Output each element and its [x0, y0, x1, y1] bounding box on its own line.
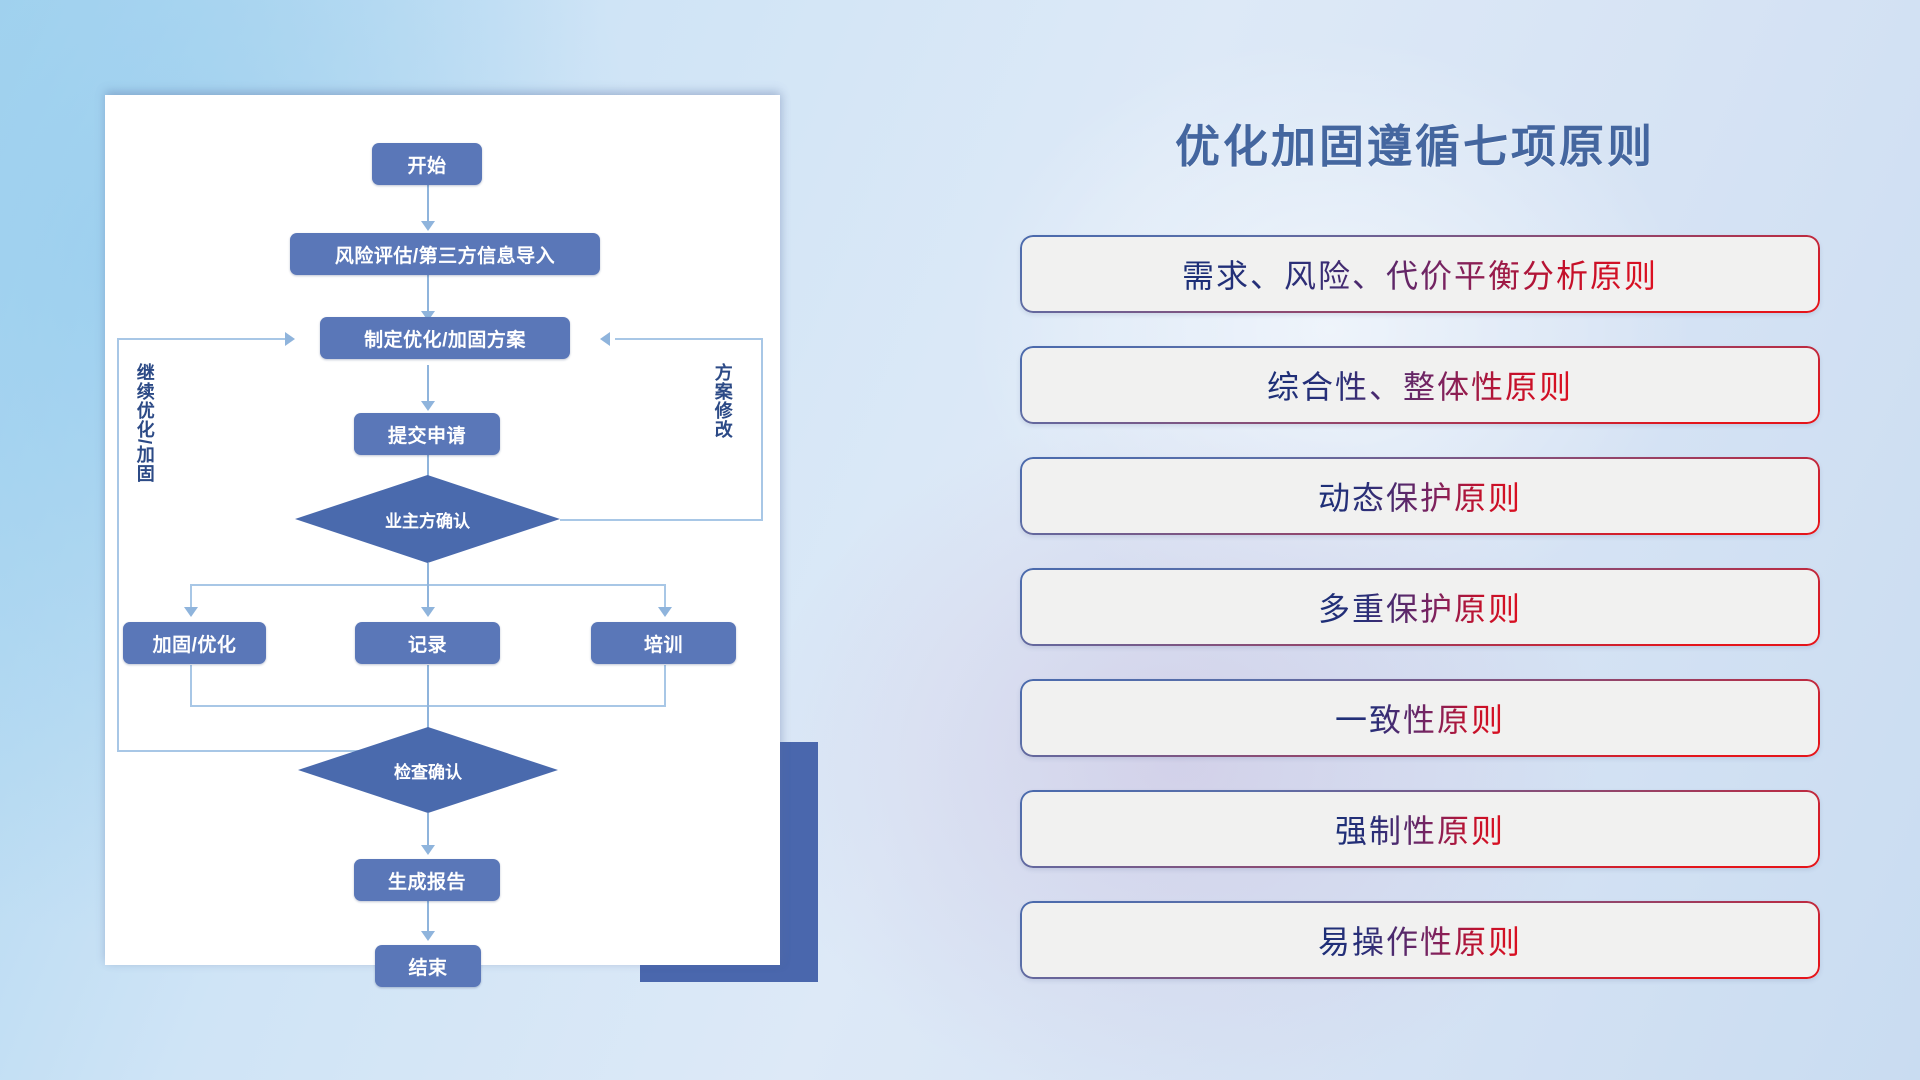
flow-node-submit[interactable]: 提交申请	[354, 413, 500, 455]
flow-node-start[interactable]: 开始	[372, 143, 482, 185]
principle-item-2-label: 综合性、整体性原则	[1267, 362, 1573, 408]
principle-list: 需求、风险、代价平衡分析原则 综合性、整体性原则 动态保护原则 多重保护原则 一…	[1020, 235, 1820, 1012]
arrowhead-submit	[421, 401, 435, 411]
principle-item-7[interactable]: 易操作性原则	[1020, 901, 1820, 979]
flowchart-card: 开始 风险评估/第三方信息导入 制定优化/加固方案 提交申请 业主方确认 加固/…	[105, 95, 780, 965]
principle-item-2[interactable]: 综合性、整体性原则	[1020, 346, 1820, 424]
flow-node-training[interactable]: 培训	[591, 622, 736, 664]
flow-node-record[interactable]: 记录	[355, 622, 500, 664]
flow-node-risk-assessment[interactable]: 风险评估/第三方信息导入	[290, 233, 600, 275]
arrowhead-risk	[421, 221, 435, 231]
principle-item-5-label: 一致性原则	[1335, 695, 1505, 741]
principle-item-6-label: 强制性原则	[1335, 806, 1505, 852]
flow-node-start-label: 开始	[407, 151, 446, 178]
connector-risk-to-plan	[427, 275, 429, 315]
flow-node-submit-label: 提交申请	[388, 421, 466, 448]
principle-item-7-label: 易操作性原则	[1318, 917, 1522, 963]
connector-left-vertical	[117, 338, 119, 752]
flow-node-report-label: 生成报告	[388, 867, 466, 894]
principle-item-3-label: 动态保护原则	[1318, 473, 1522, 519]
flow-node-owner-confirm-label: 业主方确认	[385, 507, 470, 532]
arrowhead-plan-from-right	[600, 332, 610, 346]
connector-owner-down	[427, 563, 429, 585]
connector-check-to-report	[427, 813, 429, 849]
arrowhead-train	[658, 607, 672, 617]
edge-label-plan-revision: 方案修改	[713, 363, 732, 439]
principle-item-4[interactable]: 多重保护原则	[1020, 568, 1820, 646]
merge-riser-reinforce	[190, 665, 192, 707]
flow-node-check-confirm[interactable]: 检查确认	[298, 727, 558, 813]
merge-riser-train	[664, 665, 666, 707]
principle-item-5[interactable]: 一致性原则	[1020, 679, 1820, 757]
flow-node-training-label: 培训	[644, 630, 683, 657]
connector-left-to-plan	[117, 338, 289, 340]
arrowhead-report	[421, 845, 435, 855]
connector-owner-right	[560, 519, 763, 521]
connector-start-to-risk	[427, 185, 429, 225]
principle-item-1-label: 需求、风险、代价平衡分析原则	[1182, 251, 1658, 297]
flow-node-plan-label: 制定优化/加固方案	[364, 325, 526, 352]
arrowhead-end	[421, 931, 435, 941]
flow-node-end-label: 结束	[408, 953, 447, 980]
arrowhead-reinforce	[184, 607, 198, 617]
flow-node-risk-assessment-label: 风险评估/第三方信息导入	[335, 241, 555, 268]
connector-right-to-plan	[615, 338, 763, 340]
flow-node-report[interactable]: 生成报告	[354, 859, 500, 901]
flow-node-plan[interactable]: 制定优化/加固方案	[320, 317, 570, 359]
principle-item-1[interactable]: 需求、风险、代价平衡分析原则	[1020, 235, 1820, 313]
connector-plan-to-submit	[427, 365, 429, 405]
connector-right-up	[761, 338, 763, 521]
flow-node-record-label: 记录	[408, 630, 447, 657]
flow-node-end[interactable]: 结束	[375, 945, 481, 987]
principle-item-6[interactable]: 强制性原则	[1020, 790, 1820, 868]
connector-report-to-end	[427, 901, 429, 935]
flow-node-reinforce-label: 加固/优化	[153, 630, 237, 657]
principle-item-4-label: 多重保护原则	[1318, 584, 1522, 630]
slide-canvas: 开始 风险评估/第三方信息导入 制定优化/加固方案 提交申请 业主方确认 加固/…	[0, 0, 1920, 1080]
page-title: 优化加固遵循七项原则	[1020, 110, 1810, 175]
arrowhead-plan-from-left	[285, 332, 295, 346]
arrowhead-record	[421, 607, 435, 617]
principle-item-3[interactable]: 动态保护原则	[1020, 457, 1820, 535]
flow-node-reinforce[interactable]: 加固/优化	[123, 622, 266, 664]
edge-label-continue-optimize: 继续优化/加固	[135, 363, 154, 483]
principles-panel: 优化加固遵循七项原则 需求、风险、代价平衡分析原则 综合性、整体性原则 动态保护…	[1020, 95, 1850, 995]
flow-node-owner-confirm[interactable]: 业主方确认	[295, 475, 560, 563]
flow-node-check-confirm-label: 检查确认	[394, 758, 462, 783]
